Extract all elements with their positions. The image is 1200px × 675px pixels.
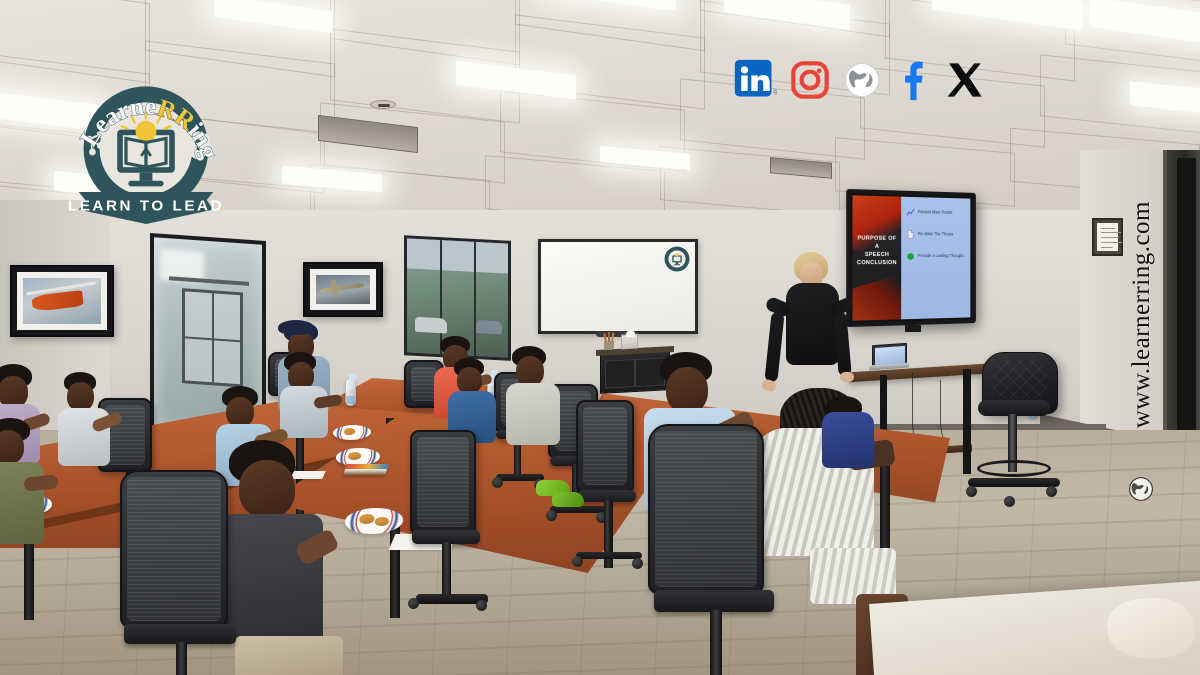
website-url-overlay: www.learnerring.com bbox=[1120, 150, 1164, 480]
photo-image bbox=[23, 278, 101, 324]
laptop-screen bbox=[875, 345, 905, 364]
snack-food bbox=[358, 514, 375, 524]
whiteboard bbox=[538, 239, 698, 334]
sneaker bbox=[552, 492, 584, 507]
green-circle-icon bbox=[906, 252, 915, 261]
document-icon bbox=[906, 230, 915, 239]
window-mullion bbox=[474, 242, 476, 356]
caster bbox=[966, 486, 977, 497]
instagram-icon[interactable] bbox=[790, 60, 830, 100]
photo-image bbox=[316, 275, 370, 304]
svg-text:®: ® bbox=[773, 89, 777, 97]
stool-footring bbox=[977, 460, 1051, 477]
caster bbox=[1004, 496, 1015, 507]
stool-base bbox=[968, 478, 1060, 487]
water-bottle bbox=[345, 378, 356, 406]
learnerring-logo: LearneRRing LEARN TO LEAD bbox=[66, 72, 226, 232]
snack-food bbox=[374, 517, 390, 526]
parked-car bbox=[476, 319, 502, 334]
facebook-icon[interactable] bbox=[894, 59, 932, 101]
presentation-television: PURPOSE OF A SPEECH CONCLUSION Review Ma… bbox=[846, 189, 976, 327]
globe-icon[interactable] bbox=[843, 61, 881, 99]
presenter-torso bbox=[786, 283, 839, 365]
pencil-cup bbox=[604, 341, 614, 351]
power-cable bbox=[940, 380, 966, 446]
barn-door-rail bbox=[169, 276, 249, 286]
aircraft-photo bbox=[303, 262, 383, 317]
whiteboard-logo-sticker bbox=[664, 246, 690, 272]
smoke-detector-icon bbox=[370, 100, 396, 109]
presenter-hand bbox=[840, 372, 854, 382]
slide-bullet-text: Re-state The Thesis bbox=[918, 232, 953, 237]
logo-tagline: LEARN TO LEAD bbox=[68, 197, 224, 214]
slide-bullet: Provide a Lasting Thought bbox=[906, 252, 967, 261]
slide-accent-shape bbox=[852, 276, 901, 321]
slide-bullet: Re-state The Thesis bbox=[906, 230, 967, 240]
globe-icon bbox=[1128, 476, 1154, 502]
parked-car bbox=[415, 316, 447, 334]
helicopter-photo bbox=[10, 265, 114, 337]
caster bbox=[1046, 486, 1057, 497]
social-icons-bar: ® bbox=[733, 58, 985, 102]
website-url-text: www.learnerring.com bbox=[1128, 201, 1156, 428]
framed-certificate bbox=[1092, 218, 1123, 256]
slide-bullet: Review Main Points bbox=[906, 208, 967, 218]
slide-title: PURPOSE OF A SPEECH CONCLUSION bbox=[852, 234, 901, 267]
slide-bullet-text: Review Main Points bbox=[918, 210, 953, 215]
slide-bullet-text: Provide a Lasting Thought bbox=[918, 254, 964, 258]
tv-wall-mount bbox=[905, 325, 921, 332]
slide-title-panel: PURPOSE OF A SPEECH CONCLUSION bbox=[852, 195, 901, 320]
window-mullion bbox=[440, 240, 442, 354]
linkedin-icon[interactable]: ® bbox=[733, 58, 777, 102]
paper-napkin bbox=[290, 471, 326, 479]
certificate-page bbox=[1097, 223, 1118, 251]
classroom-photo-scene: PURPOSE OF A SPEECH CONCLUSION Review Ma… bbox=[0, 0, 1200, 675]
cabinet-door[interactable] bbox=[605, 359, 635, 389]
line-chart-icon bbox=[906, 208, 915, 217]
slide-body-panel: Review Main Points Re-state The Thesis P… bbox=[901, 197, 970, 320]
book bbox=[343, 464, 389, 475]
x-twitter-icon[interactable] bbox=[945, 60, 985, 100]
book-cover bbox=[345, 464, 389, 469]
snack-food bbox=[344, 428, 356, 435]
snack-food bbox=[347, 452, 361, 460]
interior-door-glass bbox=[182, 289, 242, 388]
window-sky bbox=[407, 238, 508, 273]
tissue-box bbox=[621, 334, 638, 350]
